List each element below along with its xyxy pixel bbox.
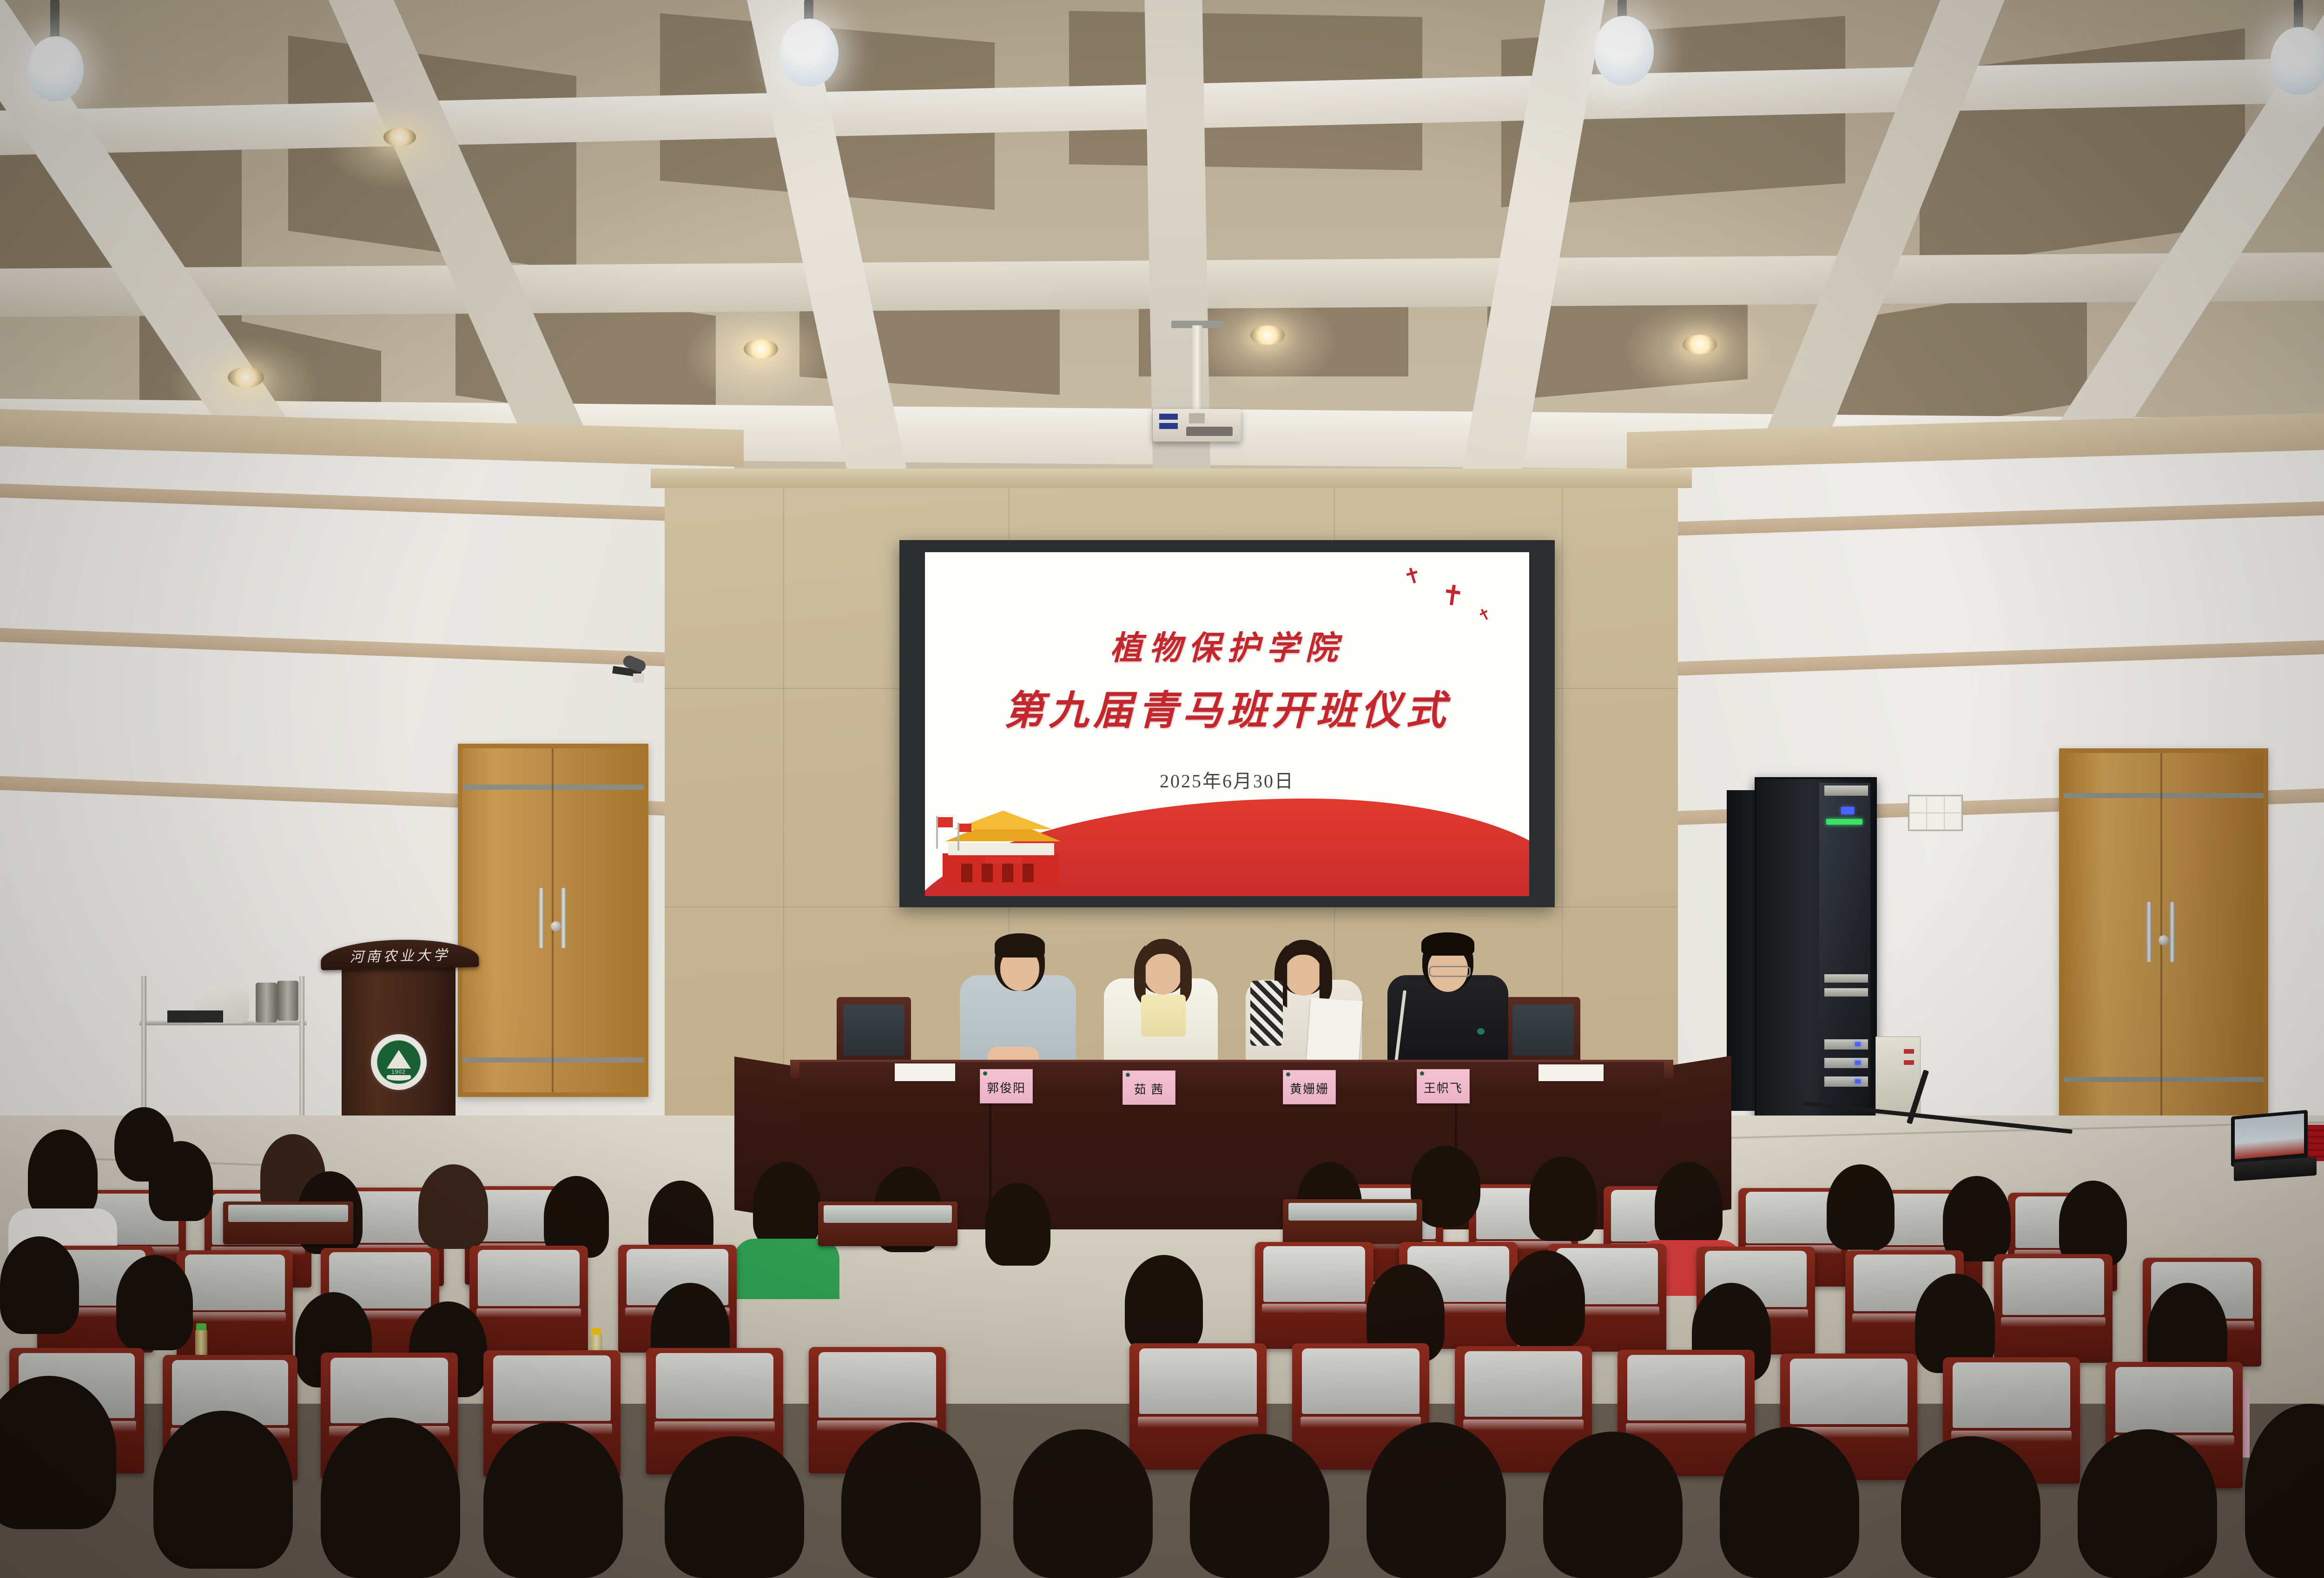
audience-member [1720,1427,1859,1578]
seat[interactable] [469,1246,588,1354]
row-desk[interactable] [223,1202,353,1244]
seat[interactable] [177,1250,293,1357]
audience-member [1190,1434,1329,1578]
audience-member [321,1418,460,1578]
pendant-light [1594,16,1654,86]
emblem-year: 1902 [371,1069,427,1075]
audience-member [2245,1404,2324,1578]
wall-outlet-panel[interactable] [1908,795,1963,831]
podium-university-name: 河南农业大学 [321,943,479,966]
placard-name: 郭俊阳 [980,1079,1032,1096]
placard-name: 茹 茜 [1123,1080,1175,1097]
audience-member [149,1141,213,1221]
audience-member [153,1411,293,1569]
audience-member [0,1236,79,1334]
audience-member [1827,1164,1895,1250]
audience-member [0,1376,116,1529]
audience-member [1943,1176,2011,1261]
seat[interactable] [1994,1254,2113,1363]
ceiling [0,0,2324,469]
table-papers [1538,1064,1604,1081]
table-papers [895,1063,955,1081]
presenter-laptop[interactable] [2231,1113,2317,1181]
thermos-flask [277,981,298,1021]
name-placard: 黄姗姗 [1283,1070,1336,1104]
door-handle-icon[interactable] [561,888,566,948]
audience-member [116,1255,193,1350]
audience-member [418,1164,488,1249]
slide-title: 植物保护学院 [925,622,1529,669]
audience-member [1529,1156,1597,1241]
name-placard: 茹 茜 [1122,1070,1175,1105]
surveillance-camera-icon [613,658,649,682]
downlight [1683,335,1717,354]
pendant-stem [2294,0,2303,31]
audience-member [1367,1422,1506,1578]
thermos-flask [256,983,277,1023]
rack-status-display [1826,819,1862,825]
audience-member [1506,1250,1585,1348]
audience-member [28,1129,98,1218]
audience-member [665,1436,804,1578]
door-handle-icon[interactable] [2146,902,2152,962]
pendant-light [28,36,84,101]
back-wall-ledge [651,469,1692,488]
audience-member [985,1183,1050,1266]
audience-member [1655,1162,1723,1248]
placard-name: 黄姗姗 [1283,1080,1335,1097]
audience-member [1543,1432,1683,1578]
projector [1153,409,1241,442]
door-lock-icon[interactable] [2159,935,2169,945]
downlight [383,128,416,146]
slide-date: 2025年6月30日 [925,766,1529,793]
downlight [1250,325,1285,345]
pendant-stem [50,0,59,40]
av-equipment-rack[interactable] [1755,777,1877,1122]
name-placard: 郭俊阳 [980,1069,1033,1103]
audience-member [753,1162,820,1247]
audience-member [2059,1181,2127,1266]
audience-member [1125,1255,1203,1353]
projection-screen: ✝ ✝ ✝ 植物保护学院 第九届青马班开班仪式 2025年6月30日 [925,552,1529,896]
projector-pole [1192,325,1202,414]
panelist-speech-paper [1306,997,1363,1069]
row-desk[interactable] [1283,1199,1422,1244]
downlight [228,367,264,388]
audience-member [841,1422,981,1578]
slide-subtitle: 第九届青马班开班仪式 [925,678,1529,736]
door-right[interactable] [2059,748,2268,1120]
audience-member [483,1422,623,1578]
seat[interactable] [1255,1242,1373,1349]
door-left[interactable] [458,744,648,1097]
audience-member [2078,1429,2217,1578]
utility-cart [139,976,307,1129]
door-lock-icon[interactable] [551,921,561,931]
audience-member [1901,1436,2040,1578]
downlight [744,339,778,359]
audience-member [1013,1429,1153,1578]
door-handle-icon[interactable] [539,888,544,948]
university-emblem: 1902 [371,1034,427,1090]
rack-open-door[interactable] [1727,790,1758,1111]
eyeglasses-icon [1429,966,1471,977]
projection-screen-frame: ✝ ✝ ✝ 植物保护学院 第九届青马班开班仪式 2025年6月30日 [899,540,1555,907]
placard-name: 王帜飞 [1417,1079,1469,1096]
lecture-hall-photo: ✝ ✝ ✝ 植物保护学院 第九届青马班开班仪式 2025年6月30日 [0,0,2324,1578]
pendant-light [780,19,838,86]
row-desk[interactable] [818,1202,957,1246]
tiananmen-illustration-icon [933,799,1073,891]
door-handle-icon[interactable] [2170,902,2175,962]
name-placard: 王帜飞 [1417,1069,1470,1103]
pendant-light [2271,27,2324,95]
